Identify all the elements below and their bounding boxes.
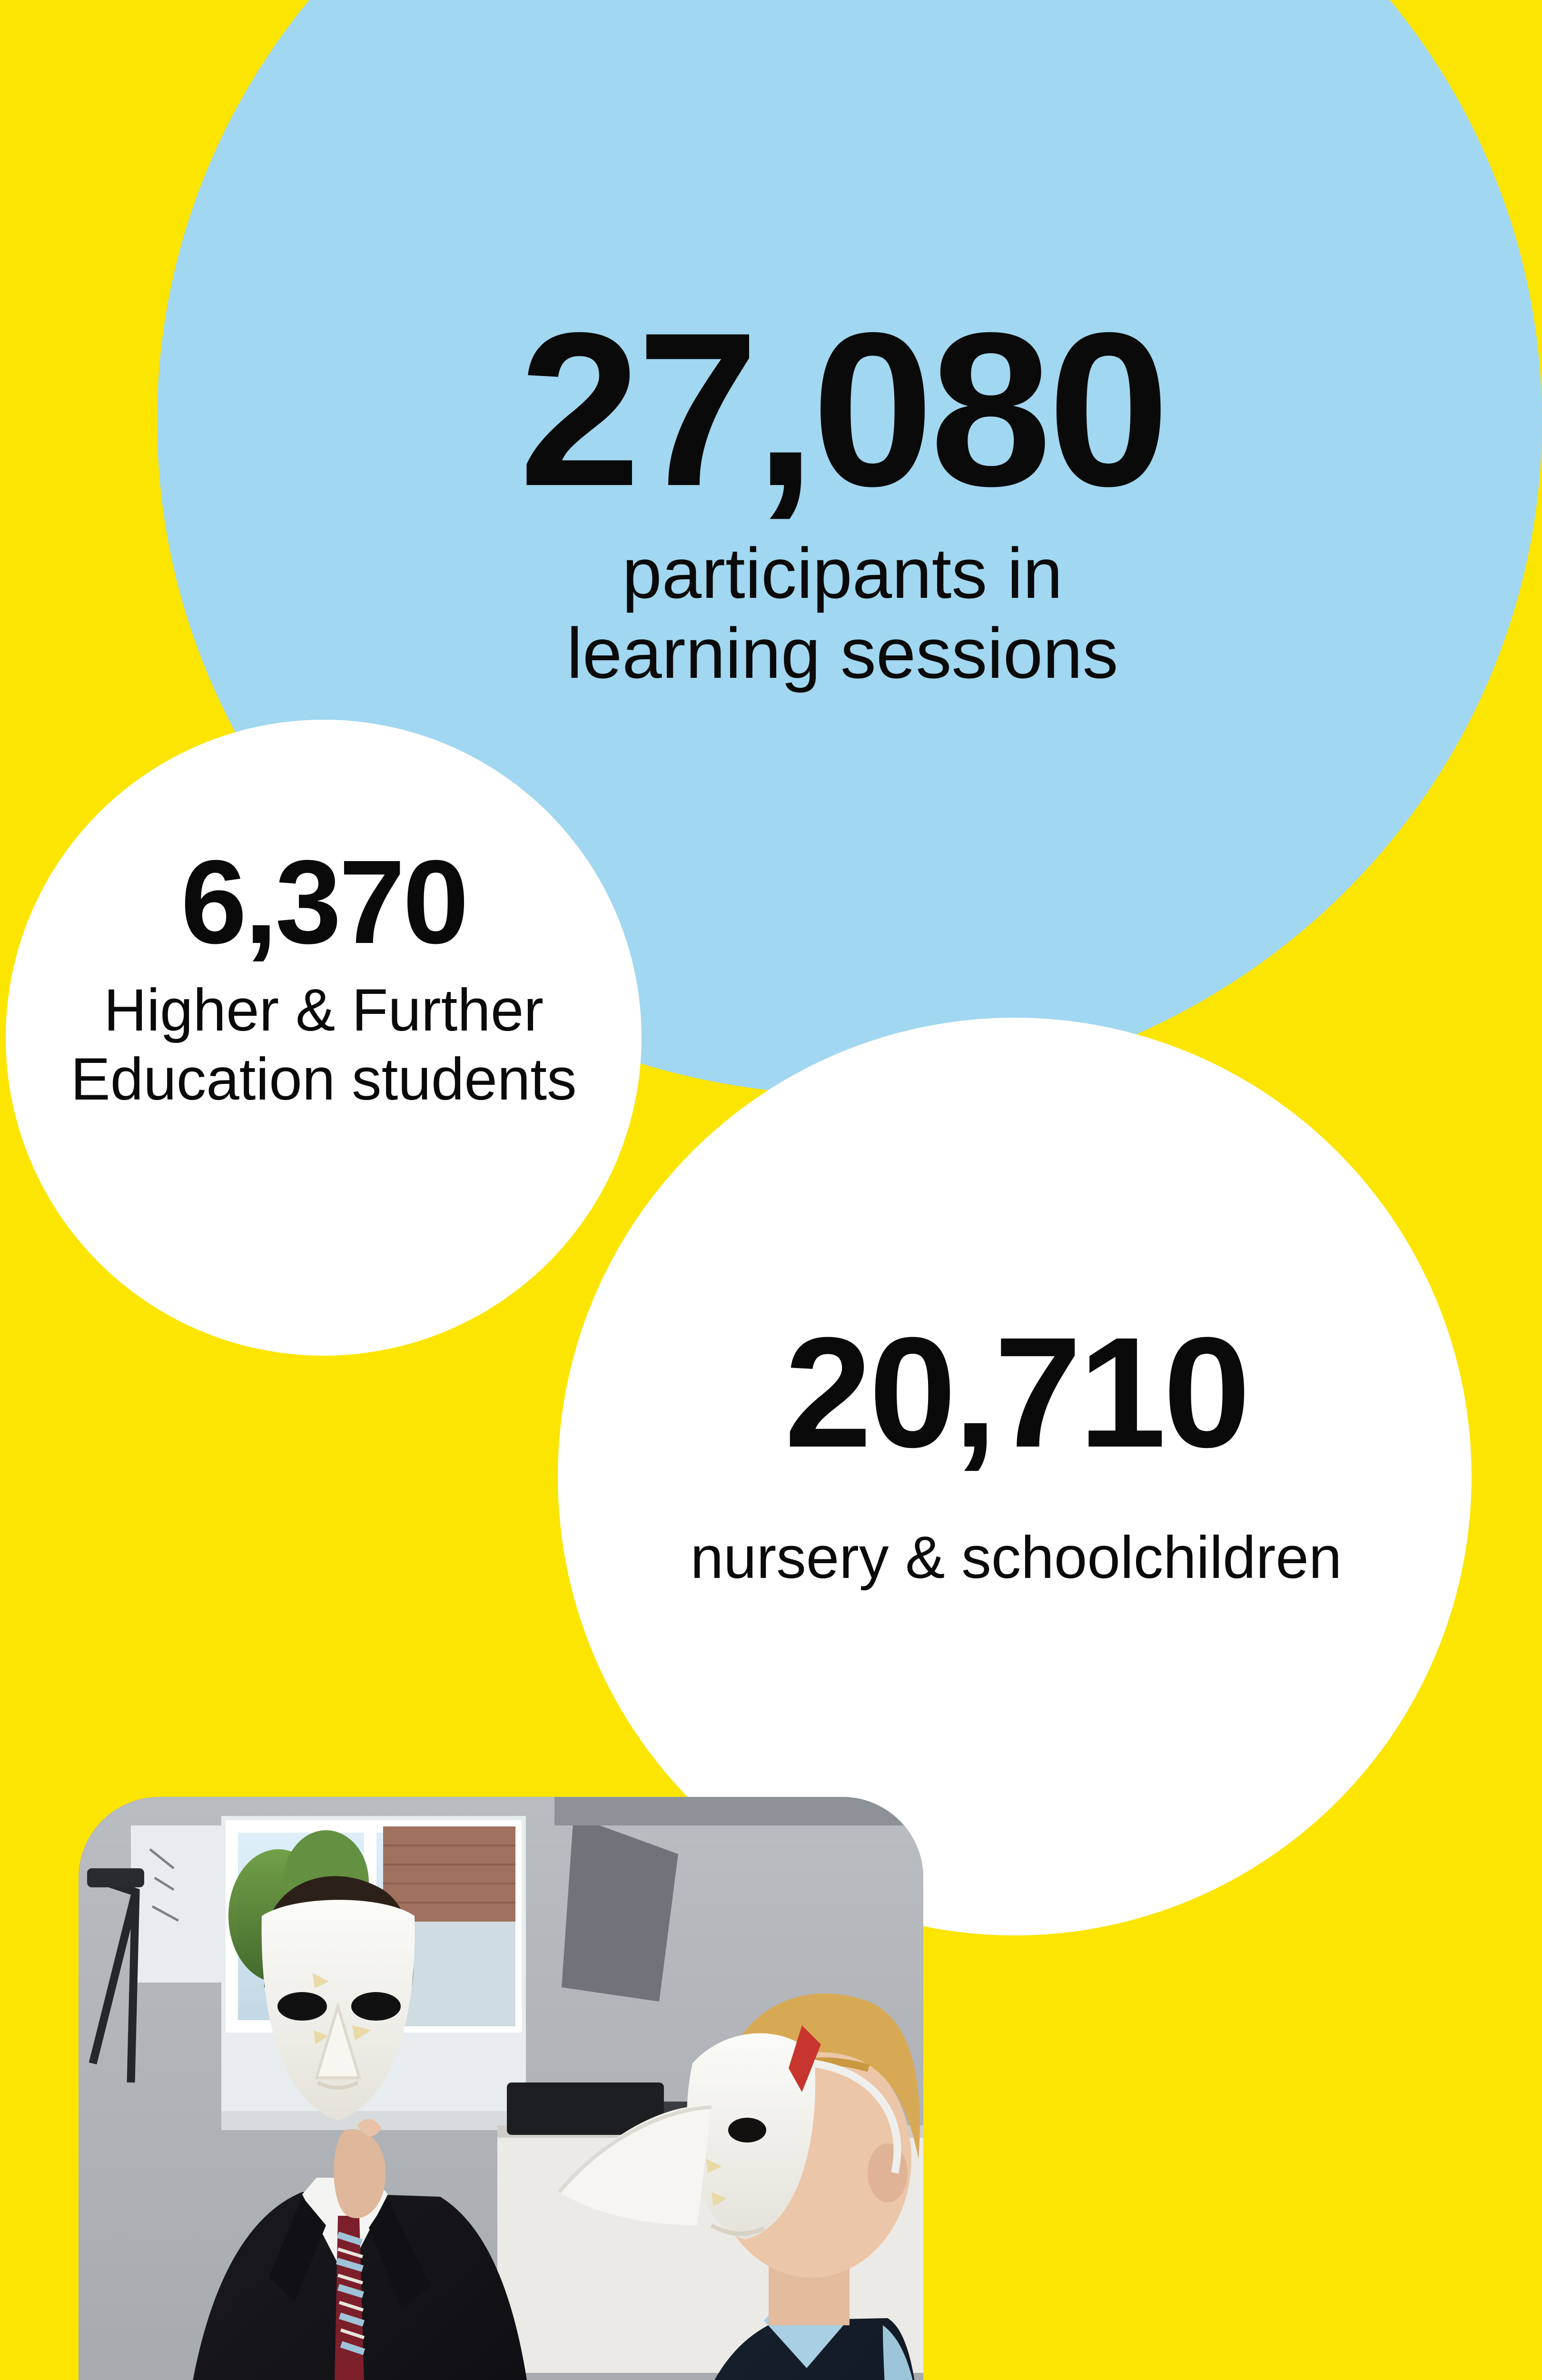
stat-block-participants: 27,080 participants inlearning sessions bbox=[200, 305, 1485, 693]
stat-value-schoolchildren: 20,710 bbox=[562, 1314, 1471, 1471]
stat-caption-schoolchildren: nursery & schoolchildren bbox=[562, 1523, 1471, 1592]
stat-block-schoolchildren: 20,710 nursery & schoolchildren bbox=[562, 1314, 1471, 1592]
stat-caption-participants-line1: participants in bbox=[622, 533, 1063, 613]
stat-value-he-fe-students: 6,370 bbox=[14, 843, 633, 962]
stat-caption-participants: participants inlearning sessions bbox=[200, 533, 1485, 693]
stat-block-he-fe-students: 6,370 Higher & FurtherEducation students bbox=[14, 843, 633, 1114]
classroom-drama-workshop-photo bbox=[79, 1797, 923, 2380]
stat-value-participants: 27,080 bbox=[200, 305, 1485, 515]
stat-caption-he-fe-line2: Education students bbox=[70, 1046, 576, 1112]
infographic-canvas: 27,080 participants inlearning sessions … bbox=[0, 0, 1542, 2380]
stat-caption-participants-line2: learning sessions bbox=[567, 613, 1118, 693]
stat-caption-he-fe-students: Higher & FurtherEducation students bbox=[14, 976, 633, 1114]
stat-caption-he-fe-line1: Higher & Further bbox=[104, 977, 544, 1043]
